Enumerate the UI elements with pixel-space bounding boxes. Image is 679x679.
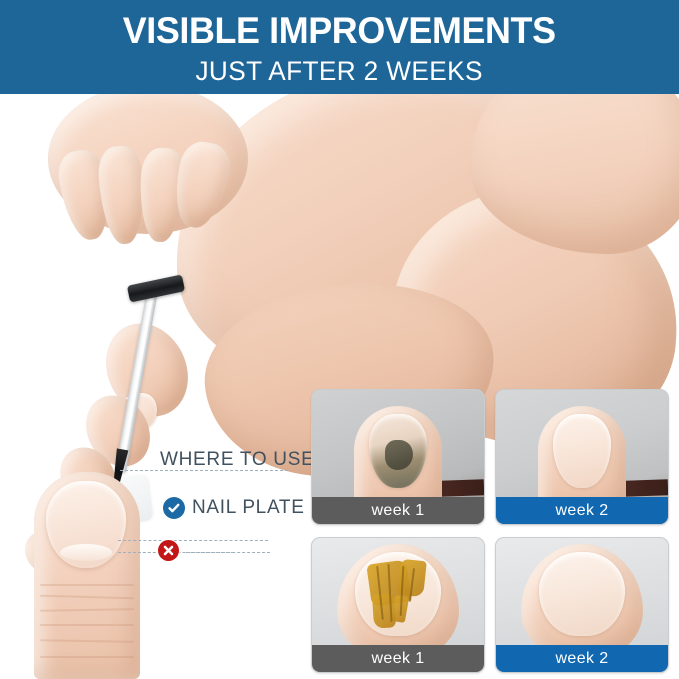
comparison-grid: week 1 week 2 (311, 389, 669, 674)
cell-caption: week 1 (312, 497, 484, 524)
skin-crease (40, 656, 134, 658)
callout-title: WHERE TO USE (160, 449, 314, 471)
comparison-cell-week1-toenail[interactable]: week 1 (311, 537, 485, 673)
fingertip-lunula (60, 544, 112, 561)
nail-clear (553, 414, 611, 488)
banner-title: VISIBLE IMPROVEMENTS (123, 12, 556, 49)
callout-item-label: NAIL PLATE (192, 497, 305, 519)
toenail-clear (539, 552, 625, 636)
cell-caption: week 2 (496, 497, 668, 524)
cell-caption: week 1 (312, 645, 484, 672)
x-circle-icon (158, 540, 179, 561)
nail-discolored (369, 414, 427, 488)
skin-crease (40, 639, 134, 643)
skin-crease (40, 624, 134, 626)
toenail-fungal (355, 552, 441, 636)
product-marketing-image: VISIBLE IMPROVEMENTS JUST AFTER 2 WEEKS (0, 0, 679, 679)
leader-line-title (120, 470, 288, 471)
skin-crease (40, 584, 134, 586)
comparison-cell-week1-fingernail[interactable]: week 1 (311, 389, 485, 525)
leader-line-low-right (186, 552, 234, 553)
comparison-row-toenail: week 1 week 2 (311, 537, 669, 673)
header-banner: VISIBLE IMPROVEMENTS JUST AFTER 2 WEEKS (0, 0, 679, 95)
cell-caption: week 2 (496, 645, 668, 672)
fingertip-closeup (34, 472, 140, 679)
skin-crease (40, 608, 134, 612)
skin-crease (40, 595, 134, 599)
comparison-row-fingernail: week 1 week 2 (311, 389, 669, 525)
comparison-cell-week2-fingernail[interactable]: week 2 (495, 389, 669, 525)
banner-subtitle: JUST AFTER 2 WEEKS (196, 58, 483, 85)
comparison-cell-week2-toenail[interactable]: week 2 (495, 537, 669, 673)
check-circle-icon (163, 497, 185, 519)
leader-line-mid (118, 540, 268, 541)
callout-item-nail-plate: NAIL PLATE (163, 497, 305, 519)
